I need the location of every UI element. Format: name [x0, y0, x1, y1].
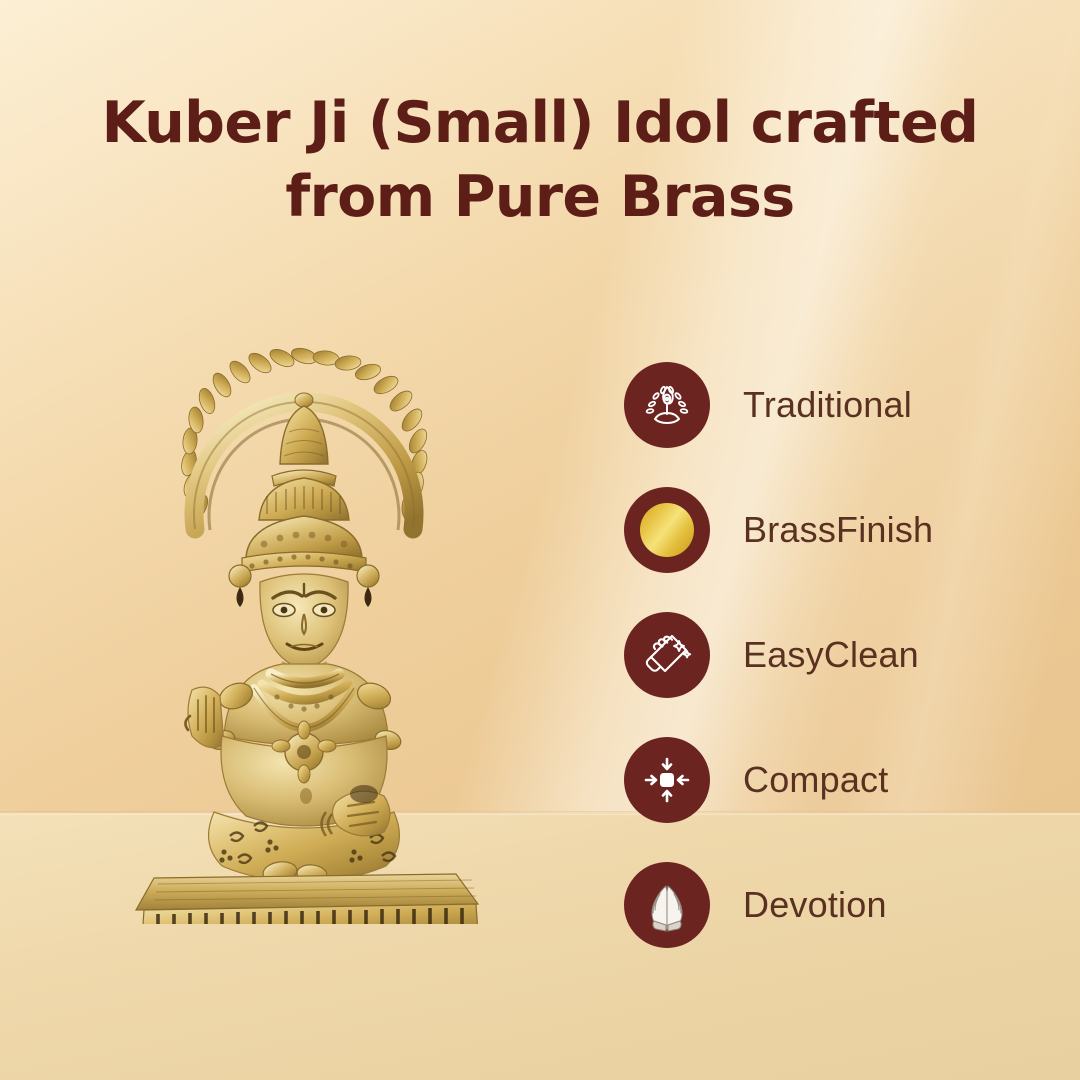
belly-and-lap	[209, 721, 400, 885]
feature-label: BrassFinish	[743, 509, 933, 551]
feature-label: Compact	[743, 759, 888, 801]
title-line-1: Kuber Ji (Small) Idol crafted	[102, 90, 979, 156]
feature-item-brassfinish: BrassFinish	[624, 487, 1044, 573]
feature-label: Devotion	[743, 884, 887, 926]
hand-wipe-sparkle-icon	[624, 612, 710, 698]
meditation-lotus-icon	[624, 362, 710, 448]
page-title: Kuber Ji (Small) Idol crafted from Pure …	[0, 86, 1080, 234]
feature-item-compact: Compact	[624, 737, 1044, 823]
feature-item-traditional: Traditional	[624, 362, 1044, 448]
brass-swatch	[640, 503, 694, 557]
face	[260, 574, 348, 670]
feature-item-devotion: Devotion	[624, 862, 1044, 948]
praying-hands-icon	[624, 862, 710, 948]
feature-label: EasyClean	[743, 634, 919, 676]
title-line-2: from Pure Brass	[50, 160, 1030, 234]
feature-list: Traditional BrassFinish	[624, 362, 1044, 948]
lotus-base	[120, 874, 494, 924]
feature-item-easyclean: EasyClean	[624, 612, 1044, 698]
product-poster: Kuber Ji (Small) Idol crafted from Pure …	[0, 0, 1080, 1080]
kuber-idol-illustration	[96, 344, 516, 924]
raised-hand	[185, 687, 224, 747]
compress-arrows-icon	[624, 737, 710, 823]
feature-label: Traditional	[743, 384, 912, 426]
product-image	[96, 344, 516, 924]
brass-finish-circle-icon	[624, 487, 710, 573]
